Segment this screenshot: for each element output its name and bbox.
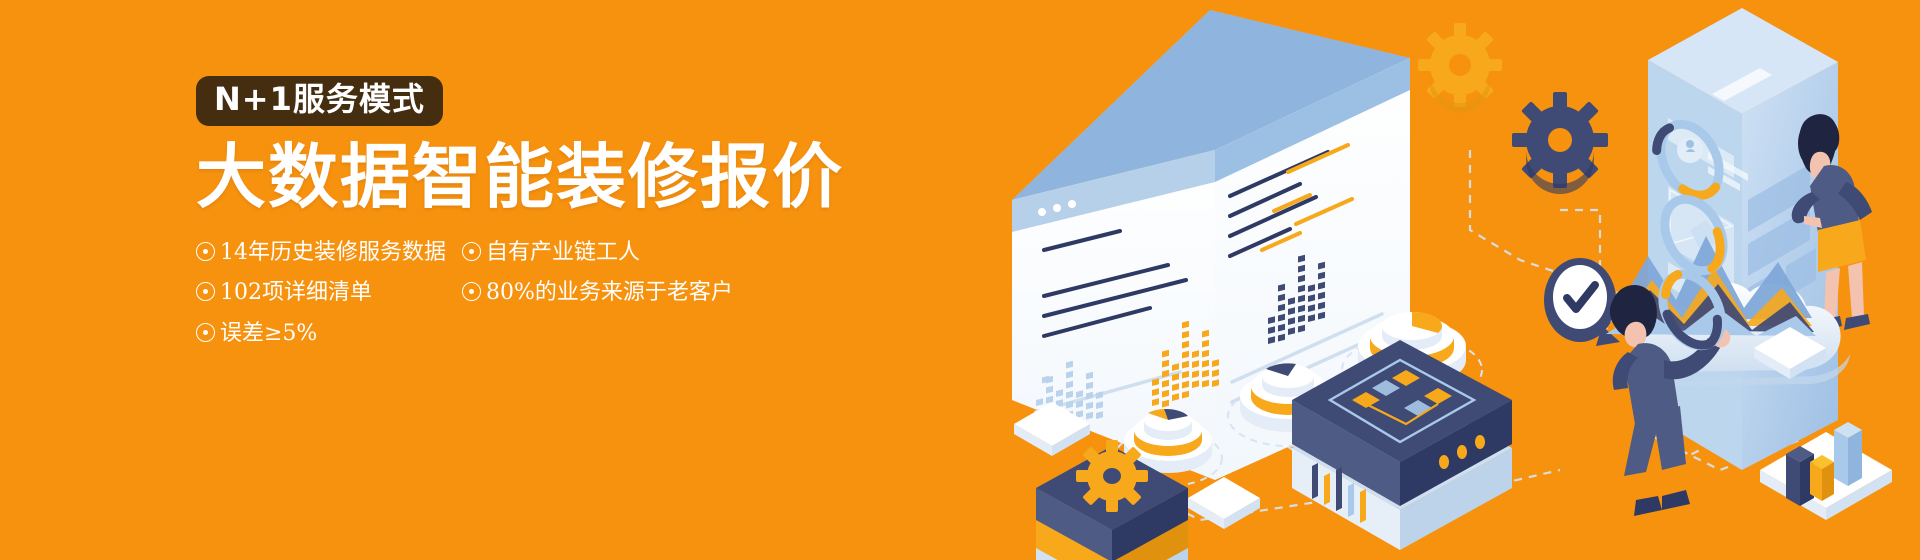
feature-label: 14年历史装修服务数据 (220, 240, 446, 266)
banner-headline: 大数据智能装修报价 (196, 140, 896, 214)
service-model-badge: N+1服务模式 (196, 76, 443, 126)
feature-label: 误差≥5% (220, 321, 317, 347)
feature-column-left: 14年历史装修服务数据 102项详细清单 误差≥5% (196, 240, 446, 347)
list-item: 80%的业务来源于老客户 (462, 280, 722, 306)
promo-banner: N+1服务模式 大数据智能装修报价 14年历史装修服务数据 102项详细清单 误… (0, 0, 1920, 560)
circled-dot-icon (196, 242, 215, 261)
list-item: 自有产业链工人 (462, 240, 722, 266)
list-item: 102项详细清单 (196, 280, 446, 306)
banner-copy-block: N+1服务模式 大数据智能装修报价 14年历史装修服务数据 102项详细清单 误… (196, 76, 896, 347)
circled-dot-icon (196, 282, 215, 301)
circled-dot-icon (462, 242, 481, 261)
feature-label: 80%的业务来源于老客户 (486, 280, 733, 306)
circled-dot-icon (462, 282, 481, 301)
feature-column-right: 自有产业链工人 80%的业务来源于老客户 (462, 240, 722, 307)
gear-navy (1512, 92, 1608, 194)
feature-label: 102项详细清单 (220, 280, 372, 306)
gear-orange (1418, 23, 1502, 113)
feature-list: 14年历史装修服务数据 102项详细清单 误差≥5% 自有产业链工人 (196, 240, 896, 347)
floating-tile-2 (1188, 477, 1260, 529)
isometric-big-data-illustration (1000, 0, 1920, 560)
feature-label: 自有产业链工人 (486, 240, 640, 266)
list-item: 14年历史装修服务数据 (196, 240, 446, 266)
circled-dot-icon (196, 323, 215, 342)
list-item: 误差≥5% (196, 321, 446, 347)
